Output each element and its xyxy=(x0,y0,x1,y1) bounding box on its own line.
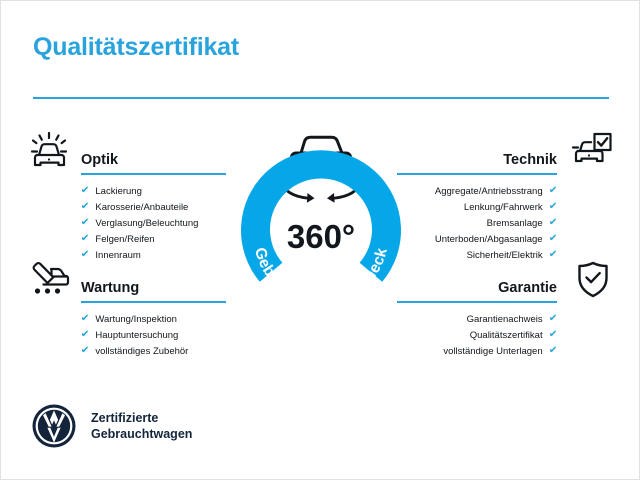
check-icon: ✔ xyxy=(548,234,557,244)
check-icon: ✔ xyxy=(548,218,557,228)
list-item: ✔Verglasung/Beleuchtung xyxy=(81,215,226,231)
check-icon: ✔ xyxy=(81,218,90,228)
section-technik-header: Technik xyxy=(397,141,557,175)
list-item: ✔Lenkung/Fahrwerk xyxy=(397,199,557,215)
section-optik-list: ✔Lackierung ✔Karosserie/Anbauteile ✔Verg… xyxy=(81,183,226,263)
car-front-lights-icon xyxy=(27,131,71,173)
check-icon: ✔ xyxy=(548,202,557,212)
check-icon: ✔ xyxy=(81,314,90,324)
title-divider xyxy=(33,97,609,99)
list-item: ✔Felgen/Reifen xyxy=(81,231,226,247)
check-icon: ✔ xyxy=(81,250,90,260)
list-item: ✔vollständige Unterlagen xyxy=(397,343,557,359)
list-item: ✔vollständiges Zubehör xyxy=(81,343,226,359)
check-icon: ✔ xyxy=(81,186,90,196)
list-item-label: Bremsanlage xyxy=(487,218,543,229)
section-optik-title: Optik xyxy=(81,152,118,168)
check-icon: ✔ xyxy=(81,234,90,244)
check-icon: ✔ xyxy=(548,186,557,196)
list-item-label: Aggregate/Antriebsstrang xyxy=(435,186,543,197)
footer-line-2: Gebrauchtwagen xyxy=(91,426,192,443)
volkswagen-logo xyxy=(31,403,77,449)
list-item: ✔Garantienachweis xyxy=(397,311,557,327)
list-item-label: Hauptuntersuchung xyxy=(95,330,178,341)
footer-text: Zertifizierte Gebrauchtwagen xyxy=(91,410,192,443)
shield-check-icon xyxy=(571,259,615,301)
list-item-label: Garantienachweis xyxy=(467,314,543,325)
list-item: ✔Sicherheit/Elektrik xyxy=(397,247,557,263)
check-icon: ✔ xyxy=(548,250,557,260)
check-icon: ✔ xyxy=(548,330,557,340)
section-technik: Technik ✔Aggregate/Antriebsstrang ✔Lenku… xyxy=(397,141,557,263)
section-wartung-list: ✔Wartung/Inspektion ✔Hauptuntersuchung ✔… xyxy=(81,311,226,359)
section-wartung-title: Wartung xyxy=(81,280,139,296)
car-service-wrench-icon xyxy=(27,259,71,301)
footer-line-1: Zertifizierte xyxy=(91,410,192,427)
section-wartung-header: Wartung xyxy=(81,269,226,303)
list-item: ✔Bremsanlage xyxy=(397,215,557,231)
list-item-label: vollständige Unterlagen xyxy=(443,346,542,357)
section-optik-divider xyxy=(81,173,226,175)
footer-brand: Zertifizierte Gebrauchtwagen xyxy=(31,403,192,449)
list-item-label: Verglasung/Beleuchtung xyxy=(95,218,198,229)
list-item: ✔Innenraum xyxy=(81,247,226,263)
section-wartung-divider xyxy=(81,301,226,303)
list-item: ✔Qualitätszertifikat xyxy=(397,327,557,343)
list-item: ✔Wartung/Inspektion xyxy=(81,311,226,327)
list-item-label: Unterboden/Abgasanlage xyxy=(435,234,543,245)
list-item-label: Lackierung xyxy=(95,186,141,197)
list-item-label: Innenraum xyxy=(95,250,140,261)
section-technik-divider xyxy=(397,173,557,175)
section-garantie-header: Garantie xyxy=(397,269,557,303)
list-item-label: Wartung/Inspektion xyxy=(95,314,177,325)
check-icon: ✔ xyxy=(81,202,90,212)
check-icon: ✔ xyxy=(548,314,557,324)
section-technik-list: ✔Aggregate/Antriebsstrang ✔Lenkung/Fahrw… xyxy=(397,183,557,263)
quality-certificate-page: Qualitätszertifikat Optik ✔Lackierung ✔K… xyxy=(0,0,640,480)
list-item: ✔Karosserie/Anbauteile xyxy=(81,199,226,215)
section-optik-header: Optik xyxy=(81,141,226,175)
section-wartung: Wartung ✔Wartung/Inspektion ✔Hauptunters… xyxy=(81,269,226,359)
gebrauchtwagen-check-badge: Gebrauchtwagen-Check 360° xyxy=(233,121,409,317)
section-optik: Optik ✔Lackierung ✔Karosserie/Anbauteile… xyxy=(81,141,226,263)
section-technik-title: Technik xyxy=(503,152,557,168)
section-garantie: Garantie ✔Garantienachweis ✔Qualitätszer… xyxy=(397,269,557,359)
check-icon: ✔ xyxy=(548,346,557,356)
list-item: ✔Unterboden/Abgasanlage xyxy=(397,231,557,247)
check-icon: ✔ xyxy=(81,330,90,340)
page-title: Qualitätszertifikat xyxy=(33,33,239,62)
car-checkbox-icon xyxy=(569,131,613,173)
list-item-label: Lenkung/Fahrwerk xyxy=(464,202,543,213)
list-item: ✔Aggregate/Antriebsstrang xyxy=(397,183,557,199)
section-garantie-list: ✔Garantienachweis ✔Qualitätszertifikat ✔… xyxy=(397,311,557,359)
check-icon: ✔ xyxy=(81,346,90,356)
list-item-label: vollständiges Zubehör xyxy=(95,346,188,357)
list-item: ✔Hauptuntersuchung xyxy=(81,327,226,343)
list-item: ✔Lackierung xyxy=(81,183,226,199)
section-garantie-divider xyxy=(397,301,557,303)
list-item-label: Karosserie/Anbauteile xyxy=(95,202,188,213)
list-item-label: Felgen/Reifen xyxy=(95,234,154,245)
badge-center-label: 360° xyxy=(287,218,355,255)
section-garantie-title: Garantie xyxy=(498,280,557,296)
list-item-label: Qualitätszertifikat xyxy=(470,330,543,341)
list-item-label: Sicherheit/Elektrik xyxy=(467,250,543,261)
